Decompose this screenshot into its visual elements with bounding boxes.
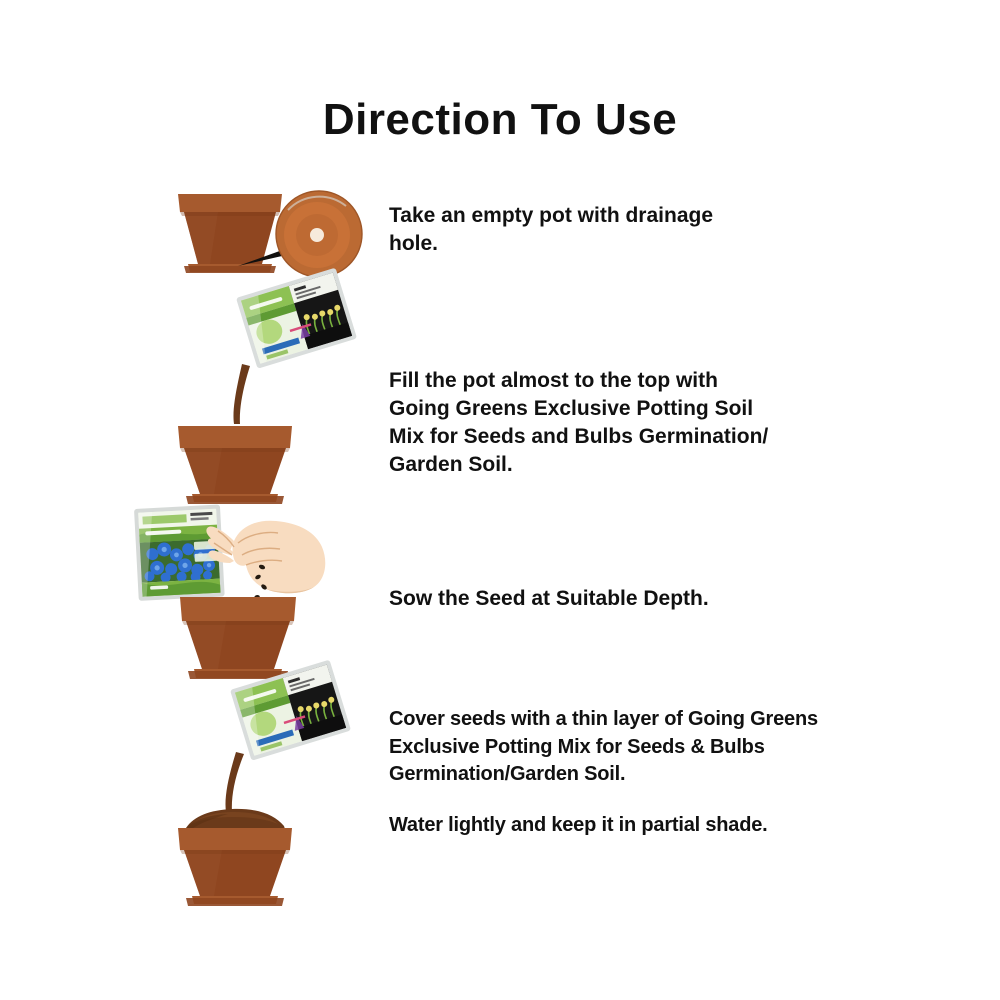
seed-packet-and-hand-sowing-icon	[130, 505, 370, 695]
page-title: Direction To Use	[0, 96, 1000, 144]
step-2-text: Fill the pot almost to the top with Goin…	[389, 367, 859, 479]
soil-bag-pouring-into-pot-icon	[170, 292, 380, 507]
direction-to-use-infographic: Direction To Use Take an empty pot wit	[0, 0, 1000, 1000]
step-3-illustration	[130, 505, 370, 695]
step-5-text: Water lightly and keep it in partial sha…	[389, 812, 879, 840]
step-4-text: Cover seeds with a thin layer of Going G…	[389, 706, 879, 789]
step-2-illustration	[170, 292, 380, 507]
step-1-text: Take an empty pot with drainage hole.	[389, 202, 829, 258]
step-4-illustration	[170, 686, 380, 901]
empty-pot-with-drainage-hole-icon	[170, 186, 370, 286]
step-3-text: Sow the Seed at Suitable Depth.	[389, 585, 829, 613]
step-1-illustration	[170, 186, 370, 286]
soil-bag-covering-seeds-icon	[170, 686, 380, 901]
hand-shape	[206, 521, 325, 594]
